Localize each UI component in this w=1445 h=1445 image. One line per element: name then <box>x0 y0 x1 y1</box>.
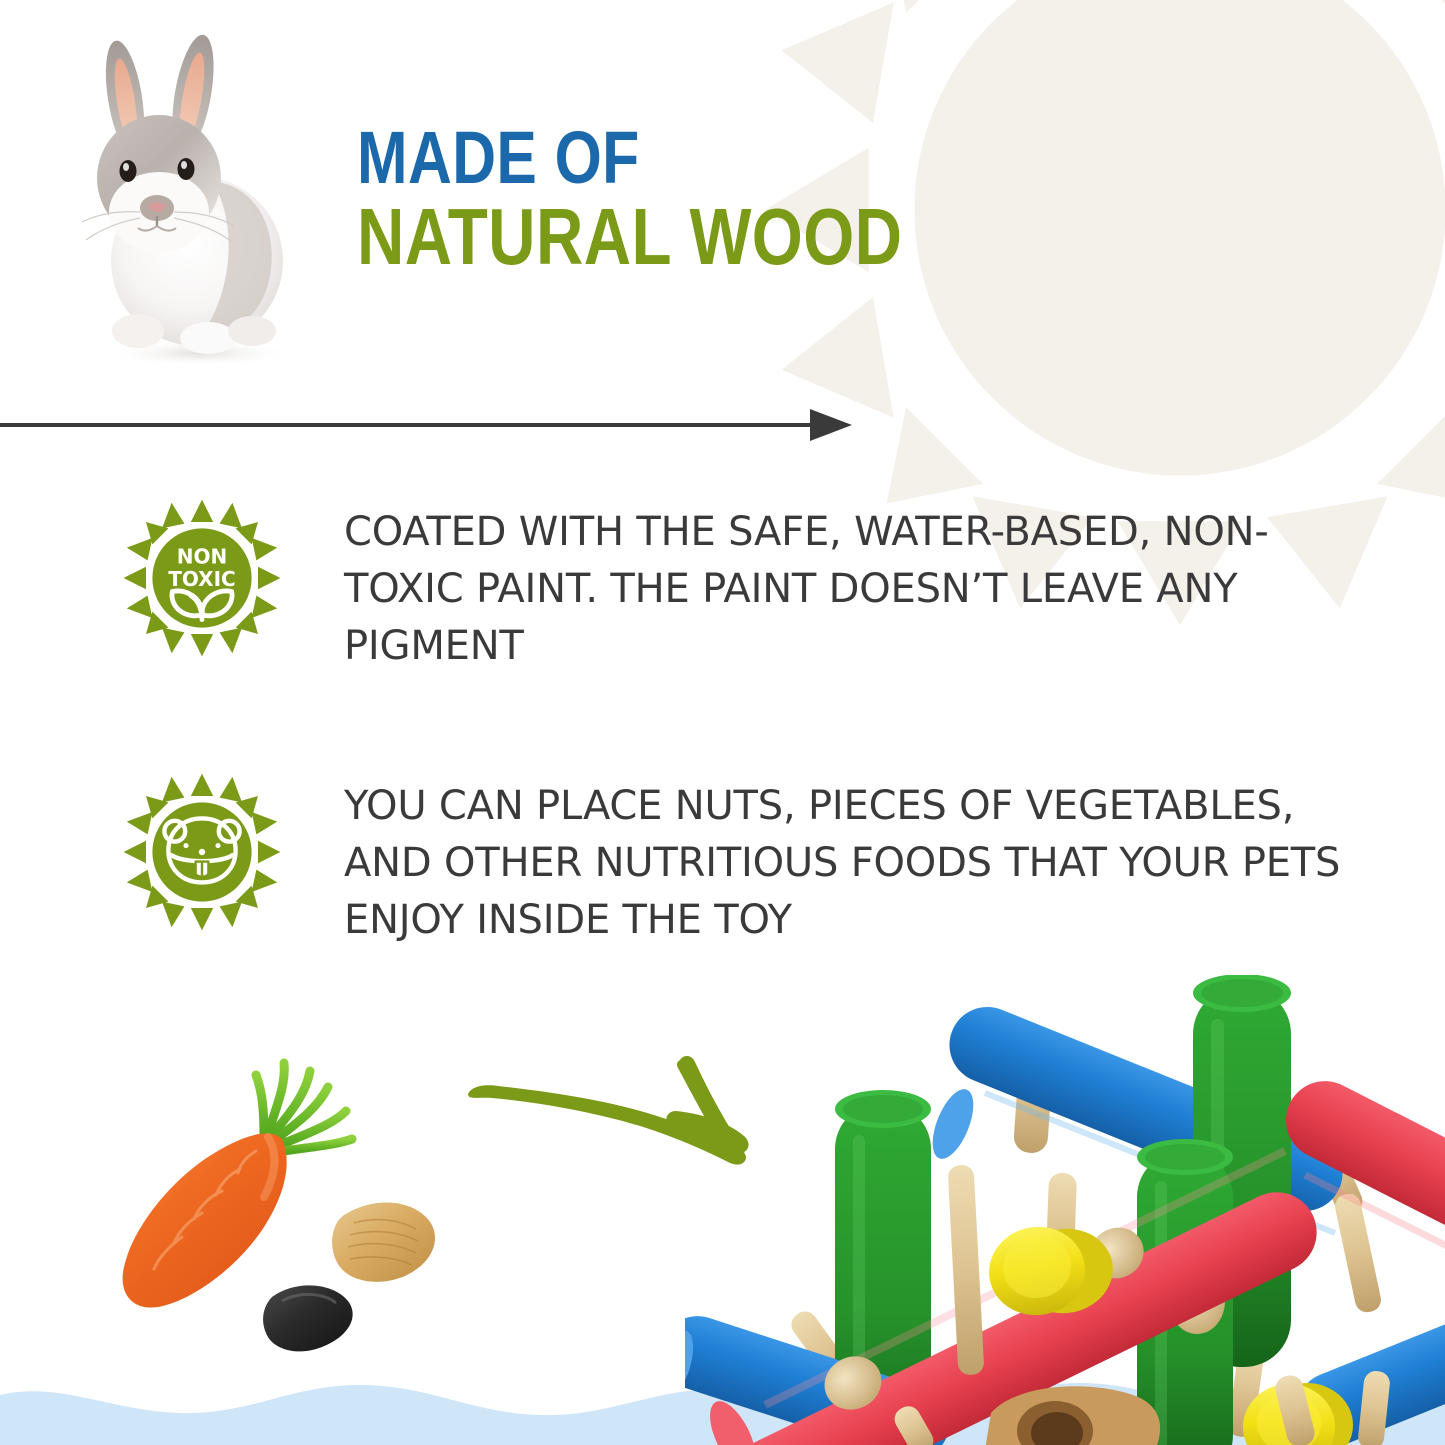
infographic-page: MADE OF NATURAL WOOD <box>0 0 1445 1445</box>
wooden-chew-toy-photo <box>685 975 1445 1445</box>
rabbit-photo <box>62 26 332 371</box>
food-group-photo <box>96 1035 496 1365</box>
headline-line-natural-wood: NATURAL WOOD <box>357 199 902 276</box>
non-toxic-label-bottom: TOXIC <box>168 567 235 591</box>
sunflower-seed <box>263 1285 353 1351</box>
feature-row-non-toxic: NON TOXIC COATED WITH THE SAFE, WATER-BA… <box>122 498 1352 674</box>
headline-line-made-of: MADE OF <box>357 122 902 193</box>
carrot-body <box>123 1133 287 1307</box>
non-toxic-label-top: NON <box>177 545 227 569</box>
page-headline: MADE OF NATURAL WOOD <box>357 122 1022 276</box>
pet-face-sunburst-icon <box>122 772 282 932</box>
non-toxic-sunburst-icon: NON TOXIC <box>122 498 282 658</box>
almond <box>332 1202 435 1281</box>
feature-text-non-toxic: COATED WITH THE SAFE, WATER-BASED, NON-T… <box>344 504 1352 674</box>
arrow-divider-icon <box>0 405 860 445</box>
feature-row-place-food: YOU CAN PLACE NUTS, PIECES OF VEGETABLES… <box>122 772 1382 948</box>
feature-text-place-food: YOU CAN PLACE NUTS, PIECES OF VEGETABLES… <box>344 778 1354 948</box>
